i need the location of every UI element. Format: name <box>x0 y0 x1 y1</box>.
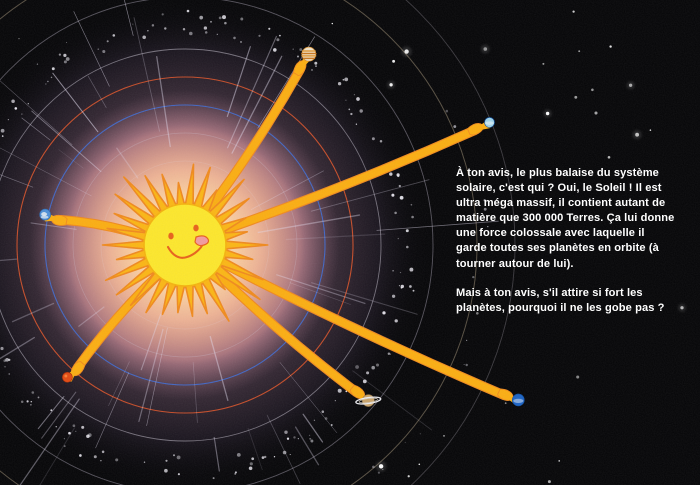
caption-text-panel: À ton avis, le plus balaise du système s… <box>456 166 678 316</box>
caption-paragraph-2: Mais à ton avis, s'il attire si fort les… <box>456 286 678 316</box>
caption-paragraph-1: À ton avis, le plus balaise du système s… <box>456 166 678 272</box>
illustrated-page: À ton avis, le plus balaise du système s… <box>0 0 700 485</box>
